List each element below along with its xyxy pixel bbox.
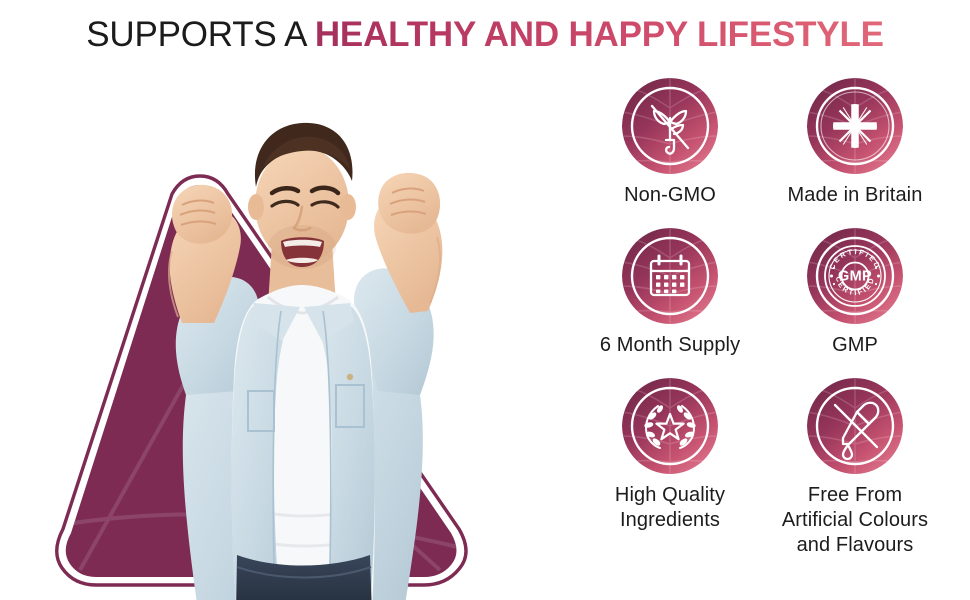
- badge-high-quality-ingredients: High Quality Ingredients: [570, 378, 770, 533]
- laurel-star-icon: [622, 378, 718, 474]
- page-title: SUPPORTS A HEALTHY AND HAPPY LIFESTYLE: [0, 14, 970, 56]
- badge-made-in-britain: Made in Britain: [755, 78, 955, 208]
- svg-text:GMP: GMP: [838, 269, 872, 285]
- product-benefits-banner: SUPPORTS A HEALTHY AND HAPPY LIFESTYLE: [0, 0, 970, 600]
- badge-label: Made in Britain: [755, 183, 955, 208]
- celebrating-man: [169, 123, 442, 600]
- badge-free-from-artificial: Free From Artificial Colours and Flavour…: [755, 378, 955, 558]
- hero-photo: [0, 55, 560, 600]
- crossed-sprout-icon: [622, 78, 718, 174]
- headline-highlight-part: HEALTHY AND HAPPY LIFESTYLE: [315, 15, 884, 54]
- badge-label: High Quality Ingredients: [570, 483, 770, 533]
- headline-plain-part: SUPPORTS A: [86, 15, 315, 54]
- badge-label: Free From Artificial Colours and Flavour…: [755, 483, 955, 558]
- gmp-certified-stamp-icon: CERTIFIED CERTIFIED GMP: [807, 228, 903, 324]
- badge-six-month-supply: 6 Month Supply: [570, 228, 770, 358]
- benefit-badge-grid: Non-GMO: [570, 78, 970, 583]
- calendar-icon: [622, 228, 718, 324]
- union-jack-icon: [807, 78, 903, 174]
- badge-label: Non-GMO: [570, 183, 770, 208]
- badge-non-gmo: Non-GMO: [570, 78, 770, 208]
- badge-gmp: CERTIFIED CERTIFIED GMP GMP: [755, 228, 955, 358]
- badge-label: 6 Month Supply: [570, 333, 770, 358]
- crossed-dropper-icon: [807, 378, 903, 474]
- badge-label: GMP: [755, 333, 955, 358]
